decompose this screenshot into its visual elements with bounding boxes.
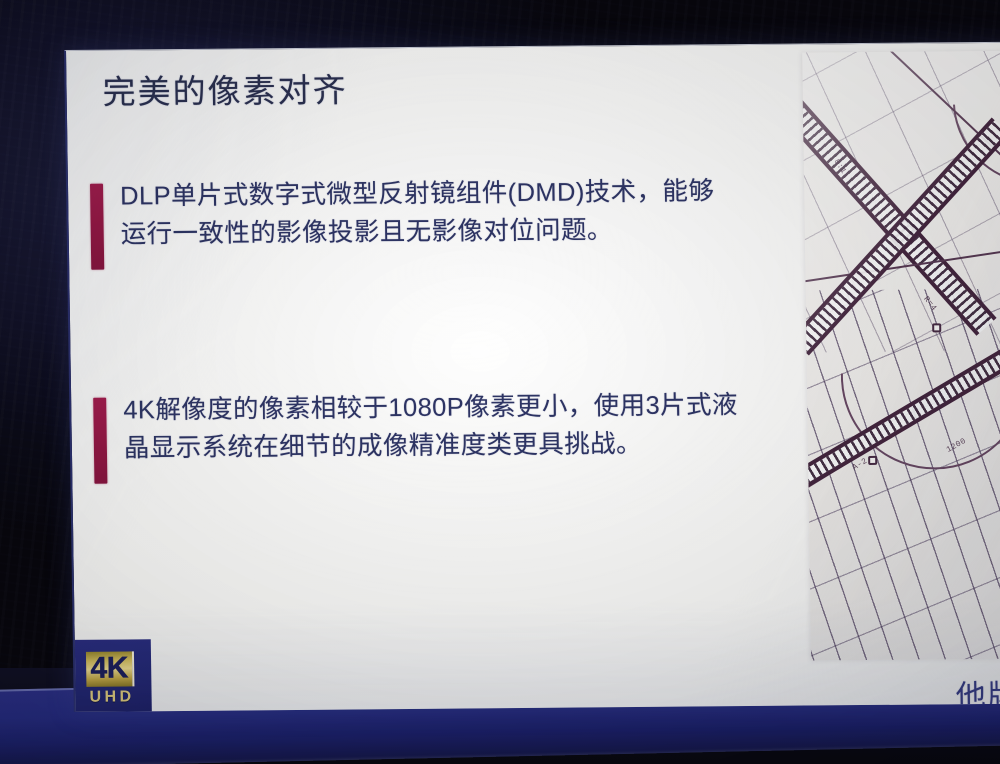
blueprint-canvas: 8:1 R=4 1200 A-2 bbox=[802, 50, 1000, 660]
bullet-accent-bar bbox=[90, 184, 104, 270]
bullet-text: 4K解像度的像素相较于1080P像素更小，使用3片式液晶显示系统在细节的成像精准… bbox=[123, 387, 754, 468]
blueprint-radiating-lines-cross bbox=[802, 288, 1000, 661]
slide-surface: 完美的像素对齐 DLP单片式数字式微型反射镜组件(DMD)技术，能够运行一致性的… bbox=[64, 41, 1000, 711]
blueprint-joint-node bbox=[932, 323, 941, 332]
blueprint-joint-node bbox=[868, 456, 877, 465]
projected-slide-photograph: 完美的像素对齐 DLP单片式数字式微型反射镜组件(DMD)技术，能够运行一致性的… bbox=[0, 0, 1000, 764]
slide-canvas: 完美的像素对齐 DLP单片式数字式微型反射镜组件(DMD)技术，能够运行一致性的… bbox=[64, 41, 1000, 711]
blueprint-image: 8:1 R=4 1200 A-2 bbox=[802, 50, 1000, 660]
bullet-item: 4K解像度的像素相较于1080P像素更小，使用3片式液晶显示系统在细节的成像精准… bbox=[93, 387, 754, 484]
logo-4k-badge-text: 4K bbox=[86, 651, 134, 686]
logo-uhd-text: UHD bbox=[86, 689, 134, 705]
bullet-text: DLP单片式数字式微型反射镜组件(DMD)技术，能够运行一致性的影像投影且无影像… bbox=[120, 173, 731, 254]
bullet-item: DLP单片式数字式微型反射镜组件(DMD)技术，能够运行一致性的影像投影且无影像… bbox=[90, 173, 731, 270]
bullet-accent-bar bbox=[93, 398, 107, 484]
logo-4k-uhd: 4K UHD bbox=[64, 639, 152, 712]
slide-title: 完美的像素对齐 bbox=[102, 71, 348, 113]
